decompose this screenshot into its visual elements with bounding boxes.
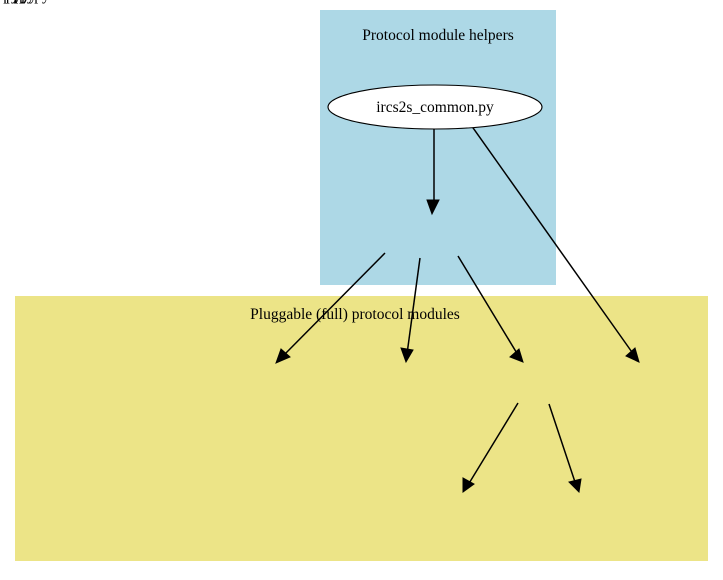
node-ratbox[interactable]: ratbox.py [0,0,30,4]
dependency-graph: Protocol module helpers Pluggable (full)… [0,0,723,580]
cluster-pluggable-box [15,296,708,561]
diagram-canvas: Protocol module helpers Pluggable (full)… [0,0,723,580]
cluster-label-pluggable: Pluggable (full) protocol modules [250,306,460,323]
cluster-helpers-box [320,10,556,285]
node-ircs2s_common[interactable]: ircs2s_common.py [328,85,542,129]
node-label: ratbox.py [0,0,30,4]
cluster-label-helpers: Protocol module helpers [362,27,514,44]
node-label: ircs2s_common.py [376,99,494,116]
